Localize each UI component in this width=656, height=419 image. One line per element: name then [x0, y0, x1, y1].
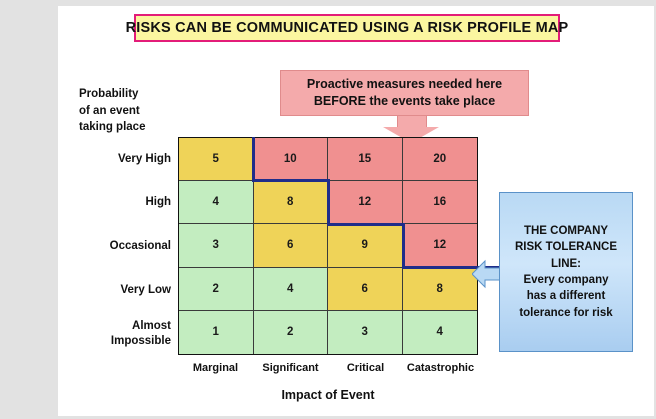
row-label-4-line-1: Impossible	[68, 334, 171, 348]
row-label-0: Very High	[68, 152, 171, 166]
tolerance-body-line-3: tolerance for risk	[519, 305, 612, 321]
risk-cell-r5-c1: 1	[179, 311, 254, 354]
proactive-measures-callout: Proactive measures needed here BEFORE th…	[280, 70, 529, 116]
row-label-0-line-0: Very High	[68, 152, 171, 166]
page-title-text: RISKS CAN BE COMMUNICATED USING A RISK P…	[126, 20, 569, 36]
column-label-2: Critical	[328, 362, 403, 374]
risk-cell-r3-c2: 6	[254, 224, 329, 267]
risk-cell-r1-c3: 15	[328, 138, 403, 181]
y-axis-caption-line-1: Probability	[79, 86, 189, 103]
callout-line-1: Proactive measures needed here	[307, 76, 502, 93]
column-label-1: Significant	[253, 362, 328, 374]
column-label-0: Marginal	[178, 362, 253, 374]
risk-cell-r1-c2: 10	[254, 138, 329, 181]
y-axis-caption-line-2: of an event	[79, 103, 189, 120]
risk-cell-r4-c1: 2	[179, 268, 254, 311]
tolerance-line-segment-1	[252, 179, 330, 182]
tolerance-line-segment-3	[327, 223, 405, 226]
risk-cell-r1-c1: 5	[179, 138, 254, 181]
tolerance-line-segment-2	[327, 179, 330, 226]
tolerance-heading-line-2: RISK TOLERANCE	[515, 239, 617, 255]
risk-cell-r2-c2: 8	[254, 181, 329, 224]
row-label-2-line-0: Occasional	[68, 239, 171, 253]
risk-cell-r4-c2: 4	[254, 268, 329, 311]
slide-panel: RISKS CAN BE COMMUNICATED USING A RISK P…	[58, 6, 654, 416]
y-axis-caption: Probability of an event taking place	[79, 86, 189, 136]
risk-cell-r4-c4: 8	[403, 268, 478, 311]
tolerance-heading-line-3: LINE:	[551, 256, 581, 272]
row-label-3: Very Low	[68, 283, 171, 297]
risk-cell-r2-c4: 16	[403, 181, 478, 224]
risk-cell-r1-c4: 20	[403, 138, 478, 181]
y-axis-caption-line-3: taking place	[79, 119, 189, 136]
risk-tolerance-callout: THE COMPANY RISK TOLERANCE LINE: Every c…	[499, 192, 633, 352]
row-label-4: AlmostImpossible	[68, 319, 171, 348]
callout-line-2: BEFORE the events take place	[314, 93, 495, 110]
risk-cell-r3-c1: 3	[179, 224, 254, 267]
column-label-3: Catastrophic	[403, 362, 478, 374]
risk-cell-r3-c4: 12	[403, 224, 478, 267]
tolerance-line-segment-0	[252, 137, 255, 182]
x-axis-caption: Impact of Event	[178, 388, 478, 402]
page-title: RISKS CAN BE COMMUNICATED USING A RISK P…	[134, 14, 560, 42]
row-label-1-line-0: High	[68, 195, 171, 209]
row-label-3-line-0: Very Low	[68, 283, 171, 297]
risk-cell-r2-c1: 4	[179, 181, 254, 224]
row-label-2: Occasional	[68, 239, 171, 253]
tolerance-arrow-icon	[472, 258, 502, 290]
tolerance-line-segment-4	[402, 223, 405, 270]
risk-cell-r5-c4: 4	[403, 311, 478, 354]
tolerance-body-line-1: Every company	[523, 272, 608, 288]
risk-cell-r2-c3: 12	[328, 181, 403, 224]
tolerance-body-line-2: has a different	[527, 288, 606, 304]
risk-cell-r4-c3: 6	[328, 268, 403, 311]
tolerance-heading-line-1: THE COMPANY	[524, 223, 608, 239]
risk-cell-r5-c3: 3	[328, 311, 403, 354]
risk-matrix-grid: 51015204812163691224681234	[178, 137, 478, 355]
row-label-1: High	[68, 195, 171, 209]
risk-cell-r3-c3: 9	[328, 224, 403, 267]
row-label-4-line-0: Almost	[68, 319, 171, 333]
risk-cell-r5-c2: 2	[254, 311, 329, 354]
